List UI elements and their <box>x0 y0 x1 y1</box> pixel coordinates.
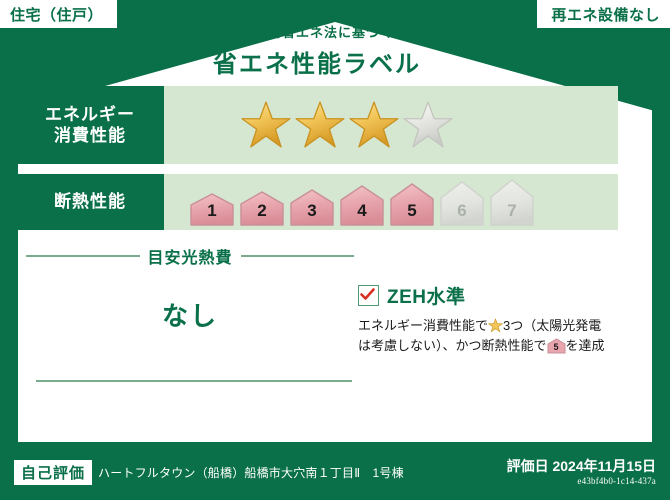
utility-cost-heading: 目安光熱費 <box>26 244 354 268</box>
insulation-level-7: 7 <box>488 178 536 226</box>
energy-star-rating <box>164 86 618 164</box>
self-evaluation-badge: 自己評価 <box>14 460 92 485</box>
zeh-title: ZEH水準 <box>387 282 466 309</box>
insulation-label-text: 断熱性能 <box>54 191 126 212</box>
insulation-level-5: 5 <box>388 182 436 226</box>
footer: 自己評価 ハートフルタウン（船橋）船橋市大穴南１丁目Ⅱ 1号棟 評価日 2024… <box>0 450 670 500</box>
insulation-level-4: 4 <box>338 184 386 226</box>
star-filled-icon <box>240 99 292 151</box>
inline-house-badge: 5 <box>547 338 566 354</box>
zeh-desc-part2: は考慮しない）、かつ断熱性能で <box>358 338 547 353</box>
star-filled-icon <box>348 99 400 151</box>
label-card <box>18 22 652 442</box>
insulation-level-6: 6 <box>438 180 486 226</box>
zeh-desc-stars: 3つ（太陽光発電 <box>503 318 601 333</box>
inline-star-icon <box>488 318 503 333</box>
insulation-performance-label: 断熱性能 <box>16 174 164 230</box>
utility-cost-section: 目安光熱費 なし <box>26 244 354 333</box>
star-empty-icon <box>402 99 454 151</box>
title-main: 省エネ性能ラベル <box>0 44 634 79</box>
utility-cost-value: なし <box>26 296 354 333</box>
insulation-level-3: 3 <box>288 188 336 226</box>
insulation-level-2: 2 <box>238 190 286 226</box>
insulation-scale: 1 2 3 4 <box>164 174 618 230</box>
zeh-title-row: ZEH水準 <box>358 282 630 309</box>
energy-label-line1: エネルギー <box>45 104 135 125</box>
zeh-desc-part3: を達成 <box>566 338 605 353</box>
energy-label-line2: 消費性能 <box>54 125 126 146</box>
insulation-house-scale: 1 2 3 4 <box>188 178 536 226</box>
zeh-description: エネルギー消費性能で3つ（太陽光発電 は考慮しない）、かつ断熱性能で5を達成 <box>358 316 630 356</box>
evaluation-date: 評価日 2024年11月15日 <box>507 456 656 476</box>
utility-cost-bottom-rule <box>36 380 352 382</box>
property-name: ハートフルタウン（船橋）船橋市大穴南１丁目Ⅱ 1号棟 <box>98 464 404 481</box>
star-filled-icon <box>294 99 346 151</box>
zeh-checkbox[interactable] <box>358 285 379 306</box>
heading-rule-right <box>241 255 355 257</box>
heading-rule-left <box>26 255 140 257</box>
evaluation-id: e43bf4b0-1c14-437a <box>577 476 656 486</box>
inline-house-number: 5 <box>547 340 566 354</box>
utility-cost-heading-text: 目安光熱費 <box>148 244 233 268</box>
title-block: 建築物省エネ法に基づく 省エネ性能ラベル <box>0 22 634 79</box>
title-subtitle: 建築物省エネ法に基づく <box>0 22 634 41</box>
check-icon <box>359 286 376 303</box>
insulation-performance-row: 断熱性能 <box>16 174 618 230</box>
energy-performance-label: エネルギー 消費性能 <box>16 86 164 164</box>
zeh-desc-part1: エネルギー消費性能で <box>358 318 488 333</box>
zeh-section: ZEH水準 エネルギー消費性能で3つ（太陽光発電 は考慮しない）、かつ断熱性能で… <box>358 282 630 356</box>
energy-label-root: 住宅（住戸） 再エネ設備なし 建築物省エネ法に基づく 省エネ性能ラベル エネルギ… <box>0 0 670 500</box>
insulation-level-1: 1 <box>188 192 236 226</box>
energy-performance-row: エネルギー 消費性能 <box>16 86 618 164</box>
